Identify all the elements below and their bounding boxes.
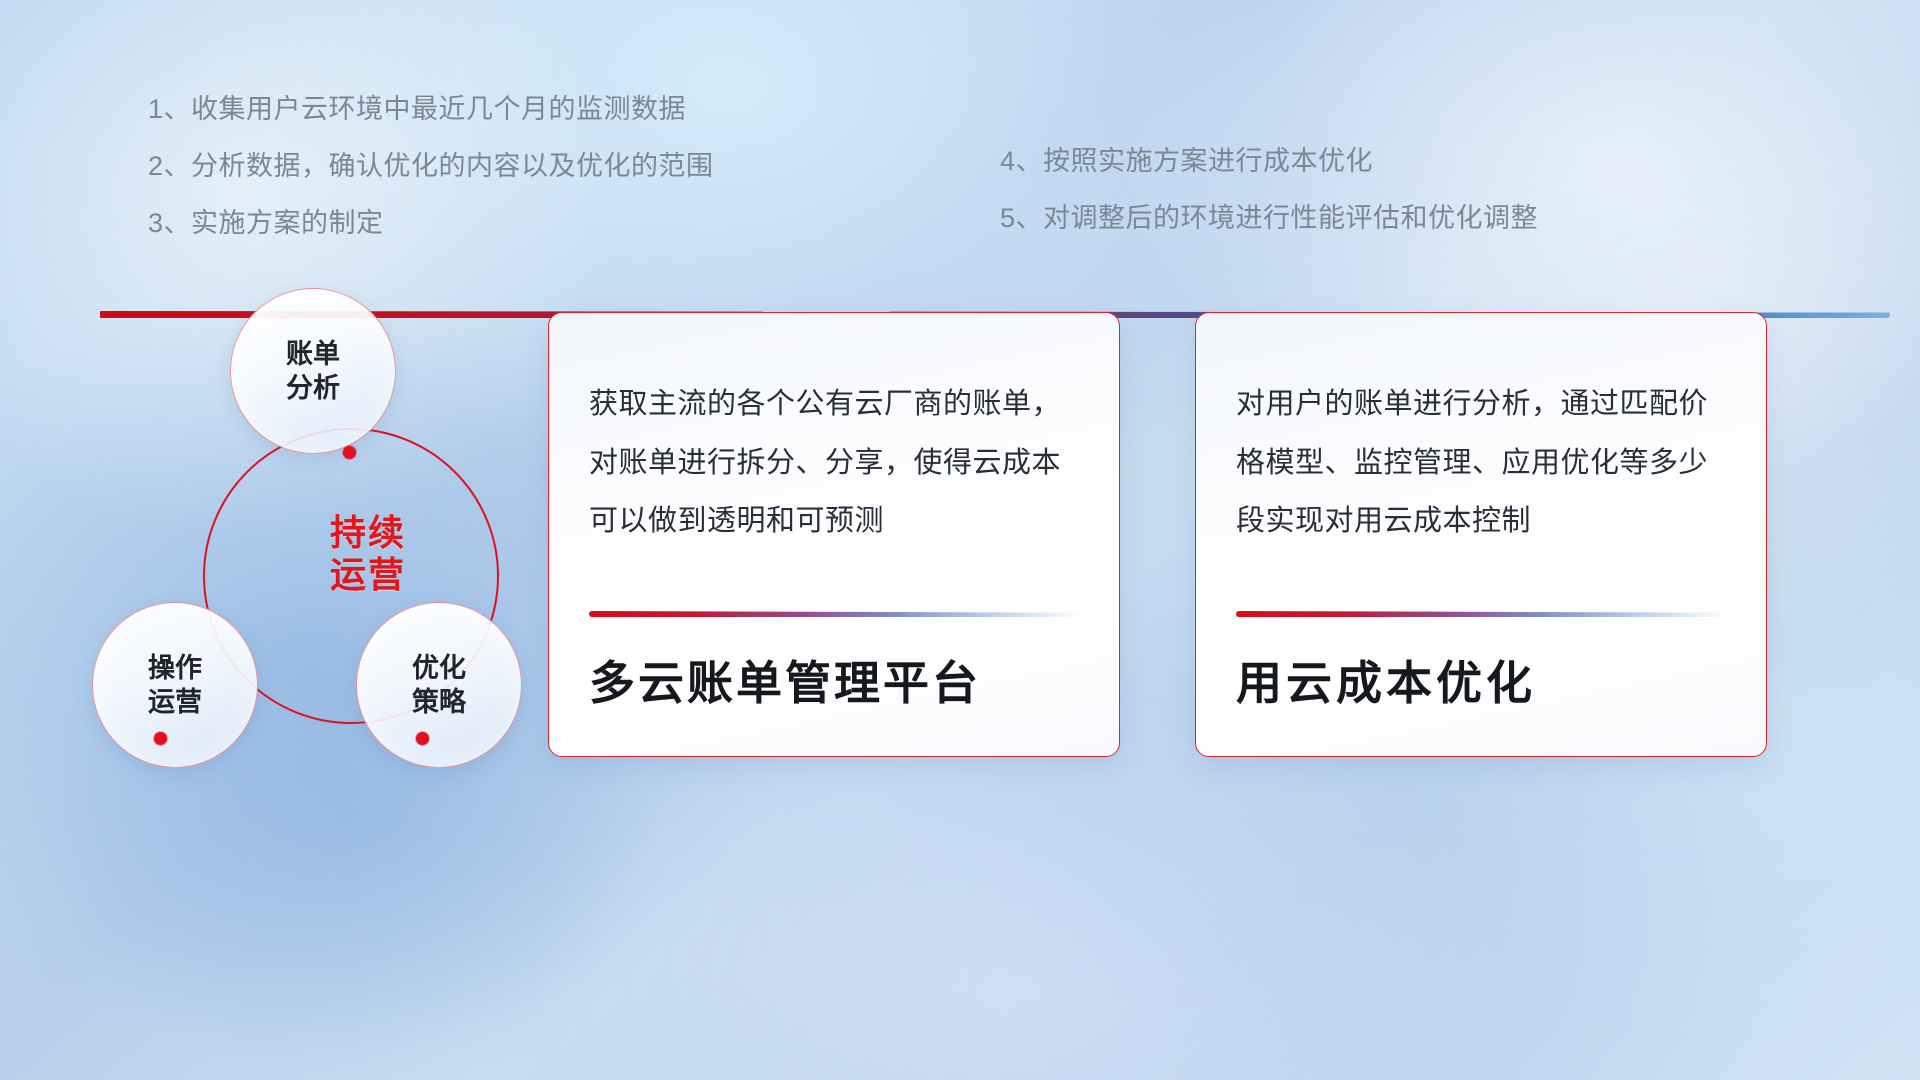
venn-bubble-left-label: 操作 运营 xyxy=(148,651,202,719)
venn-bubble-right-line1: 优化 xyxy=(412,651,466,685)
step-item-5: 5、对调整后的环境进行性能评估和优化调整 xyxy=(1000,205,1538,232)
feature-card-2-body: 对用户的账单进行分析，通过匹配价格模型、监控管理、应用优化等多少段实现对用云成本… xyxy=(1236,375,1732,551)
step-item-3: 3、实施方案的制定 xyxy=(148,210,714,237)
steps-column-right: 4、按照实施方案进行成本优化 5、对调整后的环境进行性能评估和优化调整 xyxy=(1000,148,1538,262)
slide-canvas: 1、收集用户云环境中最近几个月的监测数据 2、分析数据，确认优化的内容以及优化的… xyxy=(0,0,1920,1080)
steps-column-left: 1、收集用户云环境中最近几个月的监测数据 2、分析数据，确认优化的内容以及优化的… xyxy=(148,96,714,267)
venn-node-dot-bottom-left xyxy=(154,732,167,745)
step-item-1: 1、收集用户云环境中最近几个月的监测数据 xyxy=(148,96,714,123)
venn-bubble-top-line2: 分析 xyxy=(286,371,340,405)
venn-bubble-bill-analysis[interactable]: 账单 分析 xyxy=(230,288,396,454)
feature-card-1-rule xyxy=(589,611,1081,617)
venn-bubble-operations[interactable]: 操作 运营 xyxy=(92,602,258,768)
feature-card-1-body: 获取主流的各个公有云厂商的账单，对账单进行拆分、分享，使得云成本可以做到透明和可… xyxy=(589,375,1085,551)
feature-card-cloud-cost-optimization[interactable]: 对用户的账单进行分析，通过匹配价格模型、监控管理、应用优化等多少段实现对用云成本… xyxy=(1195,312,1767,757)
venn-center-label-line1: 持续 xyxy=(288,512,448,554)
step-item-2: 2、分析数据，确认优化的内容以及优化的范围 xyxy=(148,153,714,180)
venn-bubble-optimization-strategy[interactable]: 优化 策略 xyxy=(356,602,522,768)
venn-node-dot-bottom-right xyxy=(416,732,429,745)
feature-card-multicloud-billing[interactable]: 获取主流的各个公有云厂商的账单，对账单进行拆分、分享，使得云成本可以做到透明和可… xyxy=(548,312,1120,757)
venn-center-label: 持续 运营 xyxy=(288,512,448,597)
venn-bubble-top-line1: 账单 xyxy=(286,337,340,371)
venn-node-dot-top xyxy=(343,446,356,459)
venn-bubble-left-line1: 操作 xyxy=(148,651,202,685)
feature-card-2-rule xyxy=(1236,611,1728,617)
venn-bubble-right-line2: 策略 xyxy=(412,685,466,719)
venn-center-label-line2: 运营 xyxy=(288,554,448,596)
feature-card-1-title: 多云账单管理平台 xyxy=(589,647,1089,713)
feature-cards: 获取主流的各个公有云厂商的账单，对账单进行拆分、分享，使得云成本可以做到透明和可… xyxy=(548,312,1878,782)
venn-bubble-left-line2: 运营 xyxy=(148,685,202,719)
venn-bubble-right-label: 优化 策略 xyxy=(412,651,466,719)
feature-card-2-title: 用云成本优化 xyxy=(1236,647,1736,713)
venn-diagram: 账单 分析 操作 运营 优化 策略 持续 运营 xyxy=(78,280,558,790)
step-item-4: 4、按照实施方案进行成本优化 xyxy=(1000,148,1538,175)
steps-list: 1、收集用户云环境中最近几个月的监测数据 2、分析数据，确认优化的内容以及优化的… xyxy=(0,0,1920,300)
venn-bubble-top-label: 账单 分析 xyxy=(286,337,340,405)
